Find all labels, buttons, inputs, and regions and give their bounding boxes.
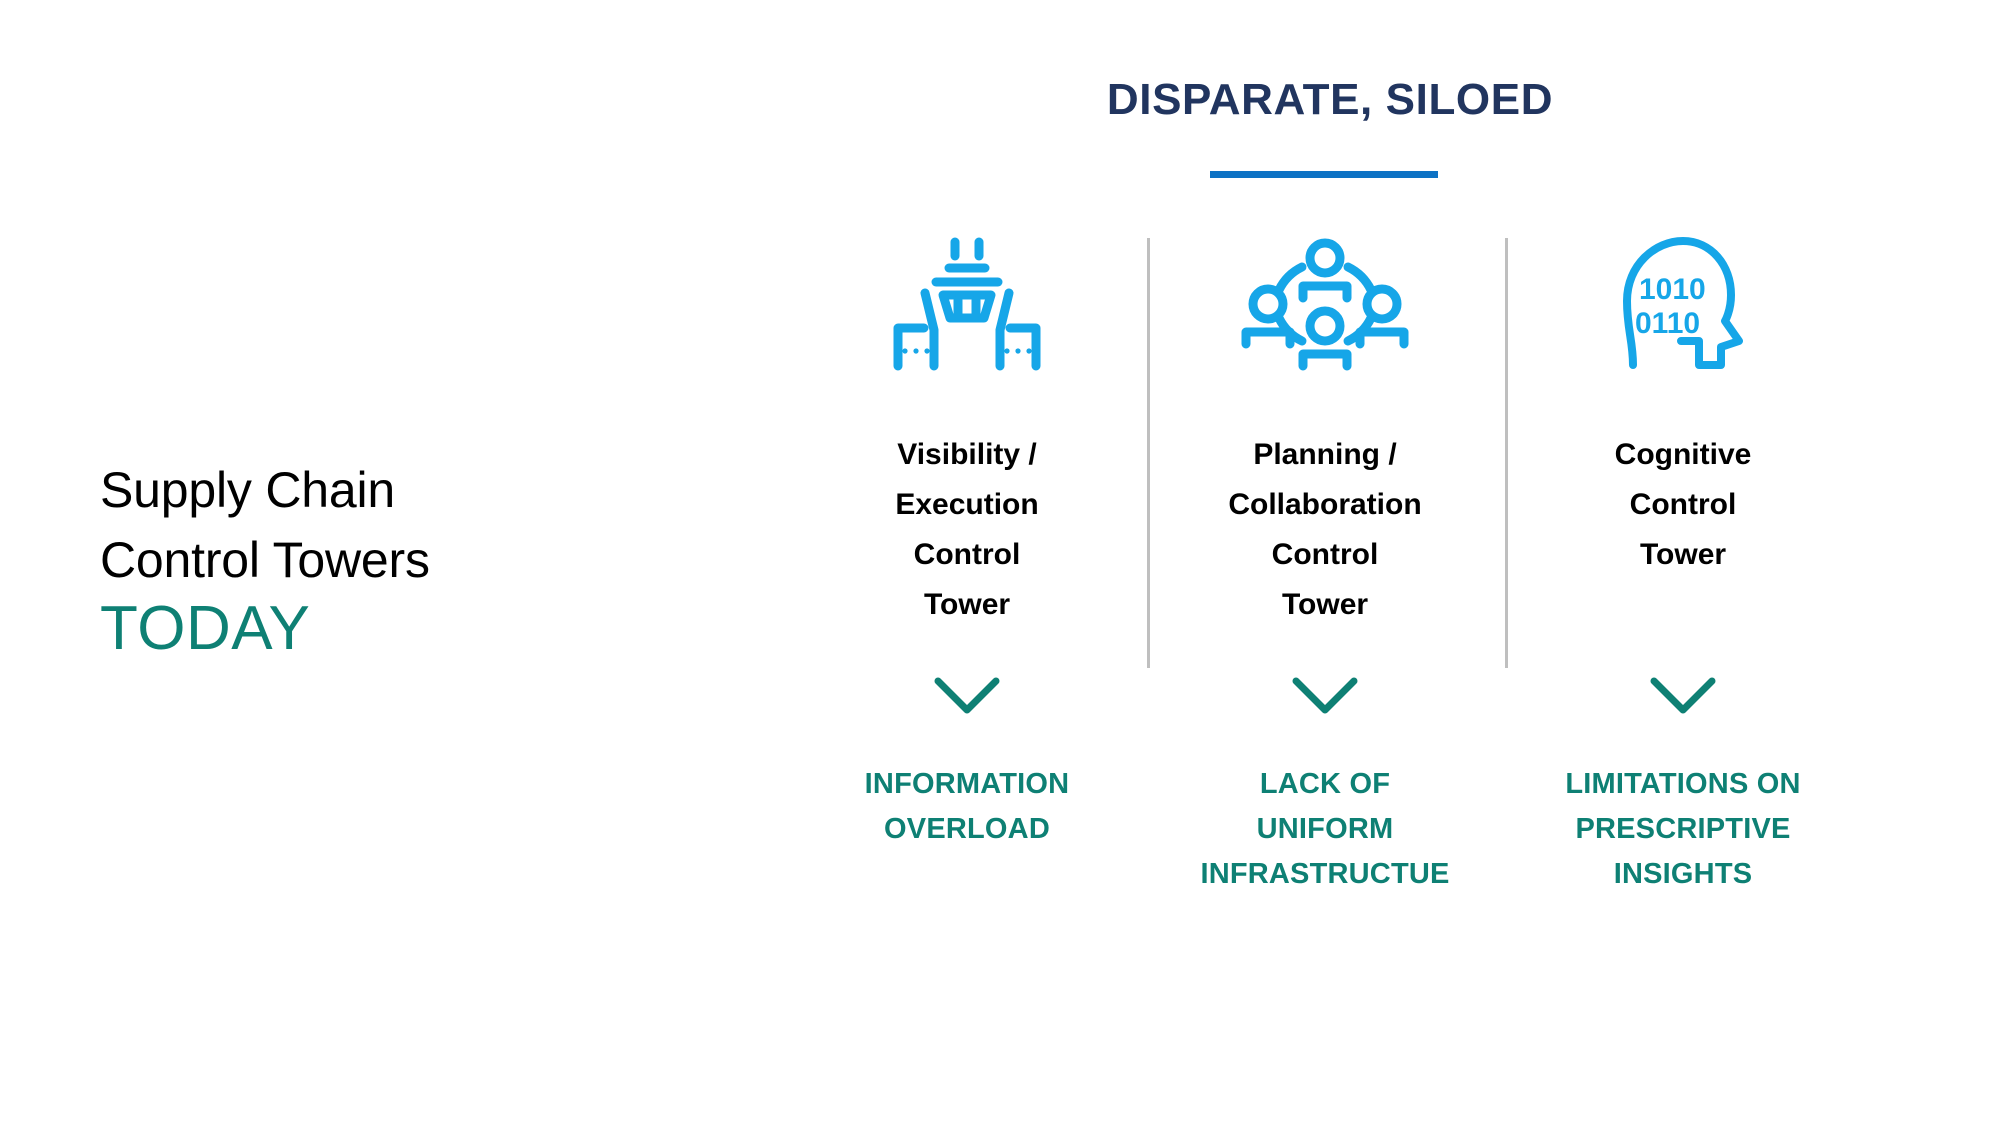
column-label-1-line-1: Visibility / [807, 430, 1127, 480]
column-label-3-line-2: Control [1523, 480, 1843, 530]
chevron-down-icon-3 [1533, 676, 1833, 732]
chevron-down-icon-2 [1175, 676, 1475, 732]
outcome-1-line-2: OVERLOAD [797, 807, 1137, 852]
column-visibility-execution: Visibility / Execution Control Tower INF… [817, 0, 1117, 1125]
outcome-2-line-2: UNIFORM [1155, 807, 1495, 852]
column-label-1: Visibility / Execution Control Tower [807, 430, 1127, 630]
column-label-2-line-4: Tower [1165, 580, 1485, 630]
column-label-2-line-2: Collaboration [1165, 480, 1485, 530]
binary-bottom-text: 0110 [1635, 307, 1700, 340]
outcome-3-line-2: PRESCRIPTIVE [1513, 807, 1853, 852]
collaboration-network-icon [1175, 234, 1475, 374]
column-label-2-line-3: Control [1165, 530, 1485, 580]
columns-group: Visibility / Execution Control Tower INF… [800, 0, 1866, 1125]
chevron-down-icon-1 [817, 676, 1117, 732]
column-label-1-line-2: Execution [807, 480, 1127, 530]
heading-line-2: Control Towers [100, 525, 620, 595]
column-label-3: Cognitive Control Tower [1523, 430, 1843, 580]
column-cognitive: 1010 0110 Cognitive Control Tower LIMITA… [1533, 0, 1833, 1125]
outcome-3-line-3: INSIGHTS [1513, 852, 1853, 897]
heading-emphasis-today: TODAY [100, 591, 620, 667]
outcome-3-line-1: LIMITATIONS ON [1513, 762, 1853, 807]
control-tower-icon [817, 234, 1117, 374]
column-planning-collaboration: Planning / Collaboration Control Tower L… [1175, 0, 1475, 1125]
outcome-text-1: INFORMATION OVERLOAD [797, 762, 1137, 852]
slide-canvas: Supply Chain Control Towers TODAY DISPAR… [0, 0, 2000, 1125]
column-label-2: Planning / Collaboration Control Tower [1165, 430, 1485, 630]
column-label-3-line-3: Tower [1523, 530, 1843, 580]
column-label-1-line-3: Control [807, 530, 1127, 580]
column-label-1-line-4: Tower [807, 580, 1127, 630]
column-label-3-line-1: Cognitive [1523, 430, 1843, 480]
binary-top-text: 1010 [1639, 273, 1706, 306]
outcome-text-3: LIMITATIONS ON PRESCRIPTIVE INSIGHTS [1513, 762, 1853, 897]
outcome-2-line-1: LACK OF [1155, 762, 1495, 807]
binary-head-icon: 1010 0110 [1533, 234, 1833, 374]
heading-line-1: Supply Chain [100, 455, 620, 525]
outcome-1-line-1: INFORMATION [797, 762, 1137, 807]
column-label-2-line-1: Planning / [1165, 430, 1485, 480]
outcome-text-2: LACK OF UNIFORM INFRASTRUCTUE [1155, 762, 1495, 897]
left-heading-block: Supply Chain Control Towers TODAY [100, 455, 620, 667]
outcome-2-line-3: INFRASTRUCTUE [1155, 852, 1495, 897]
